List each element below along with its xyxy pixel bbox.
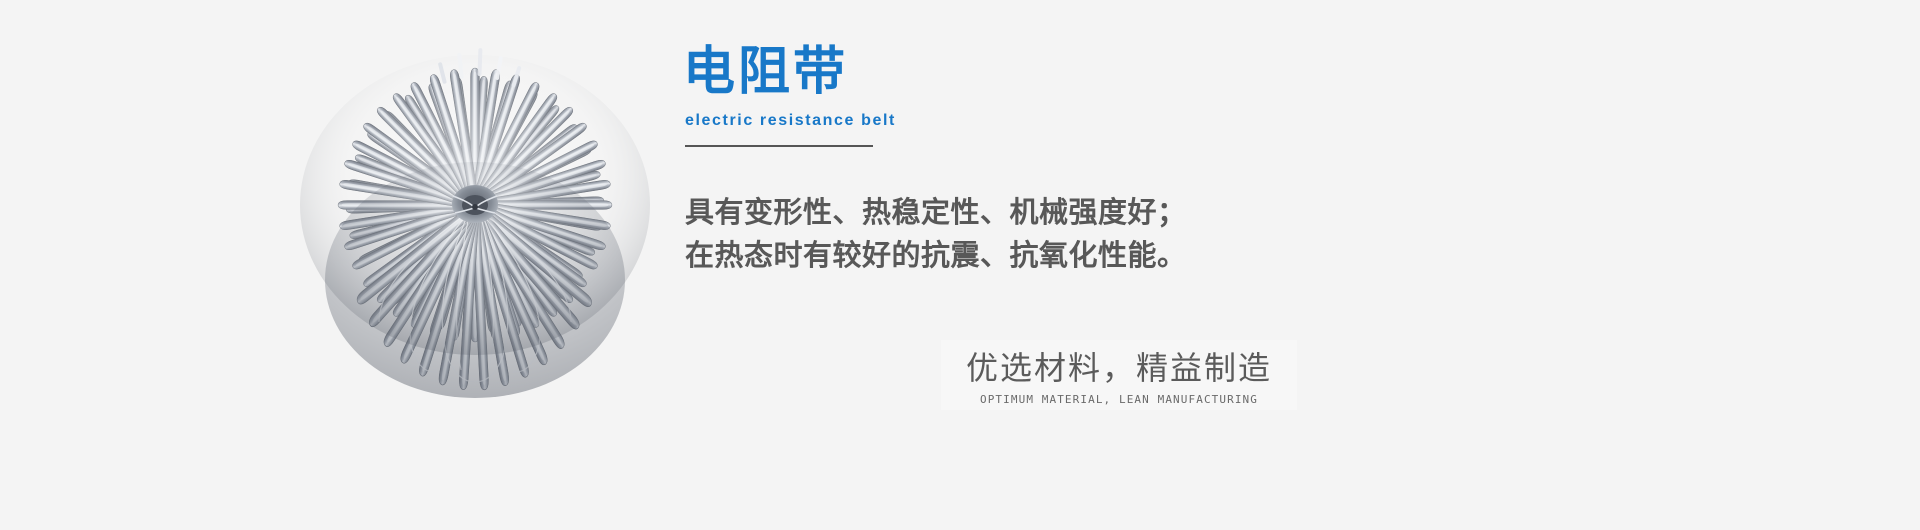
page-title: 电阻带 <box>683 42 1203 102</box>
description-line-1: 具有变形性、热稳定性、机械强度好； <box>685 192 1245 235</box>
product-image <box>268 30 668 400</box>
product-banner: 电阻带 electric resistance belt 具有变形性、热稳定性、… <box>0 0 1920 530</box>
tagline-chinese: 优选材料，精益制造 <box>941 340 1297 391</box>
content-column: 电阻带 electric resistance belt 具有变形性、热稳定性、… <box>683 42 1583 492</box>
page-subtitle: electric resistance belt <box>685 110 1203 132</box>
description-line-2: 在热态时有较好的抗震、抗氧化性能。 <box>685 235 1245 278</box>
title-divider <box>685 145 873 147</box>
tagline-block: 优选材料，精益制造 OPTIMUM MATERIAL, LEAN MANUFAC… <box>941 340 1297 410</box>
tagline-english: OPTIMUM MATERIAL, LEAN MANUFACTURING <box>941 393 1297 407</box>
title-block: 电阻带 electric resistance belt <box>683 42 1203 147</box>
description-block: 具有变形性、热稳定性、机械强度好； 在热态时有较好的抗震、抗氧化性能。 <box>685 192 1245 278</box>
